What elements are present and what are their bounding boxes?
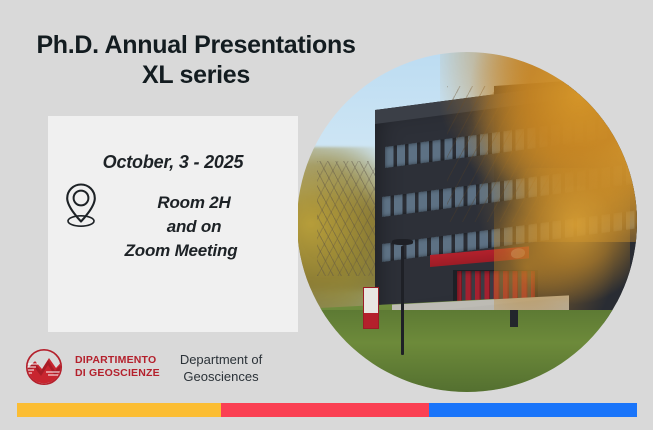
title-line-1: Ph.D. Annual Presentations [36, 31, 355, 59]
title-line-2: XL series [0, 60, 392, 90]
department-logo-lockup: DIPARTIMENTO DI GEOSCIENZE [22, 348, 160, 386]
lawn-foreground [297, 310, 637, 392]
department-name-line-2: Geosciences [158, 369, 284, 386]
event-date: October, 3 - 2025 [48, 152, 298, 173]
info-sign-board [363, 287, 379, 330]
building-photo [297, 52, 637, 392]
color-bar-segment-red [221, 403, 429, 417]
photo-scene [297, 52, 637, 392]
department-name-line-1: Department of [158, 352, 284, 369]
street-lamp [401, 246, 405, 355]
location-line-2: and on [94, 215, 294, 239]
poster-title: Ph.D. Annual Presentations XL series [0, 30, 392, 90]
poster-canvas: Ph.D. Annual Presentations XL series Oct… [0, 0, 653, 430]
event-location: Room 2H and on Zoom Meeting [94, 191, 294, 263]
autumn-foliage-right [494, 168, 630, 311]
color-bar-segment-yellow [17, 403, 221, 417]
color-bar-segment-blue [429, 403, 637, 417]
geoscienze-circle-logo-icon [22, 348, 66, 386]
location-line-1: Room 2H [94, 191, 294, 215]
logo-word-line-1: DIPARTIMENTO [75, 354, 160, 367]
location-line-3: Zoom Meeting [68, 239, 294, 263]
department-logo-wordmark: DIPARTIMENTO DI GEOSCIENZE [75, 354, 160, 381]
event-info-card: October, 3 - 2025 Room 2H and on Zoom Me… [48, 116, 298, 332]
trash-bin [510, 310, 519, 327]
footer-color-bar [17, 403, 637, 417]
department-name-english: Department of Geosciences [158, 352, 284, 386]
logo-word-line-2: DI GEOSCIENZE [75, 367, 160, 380]
